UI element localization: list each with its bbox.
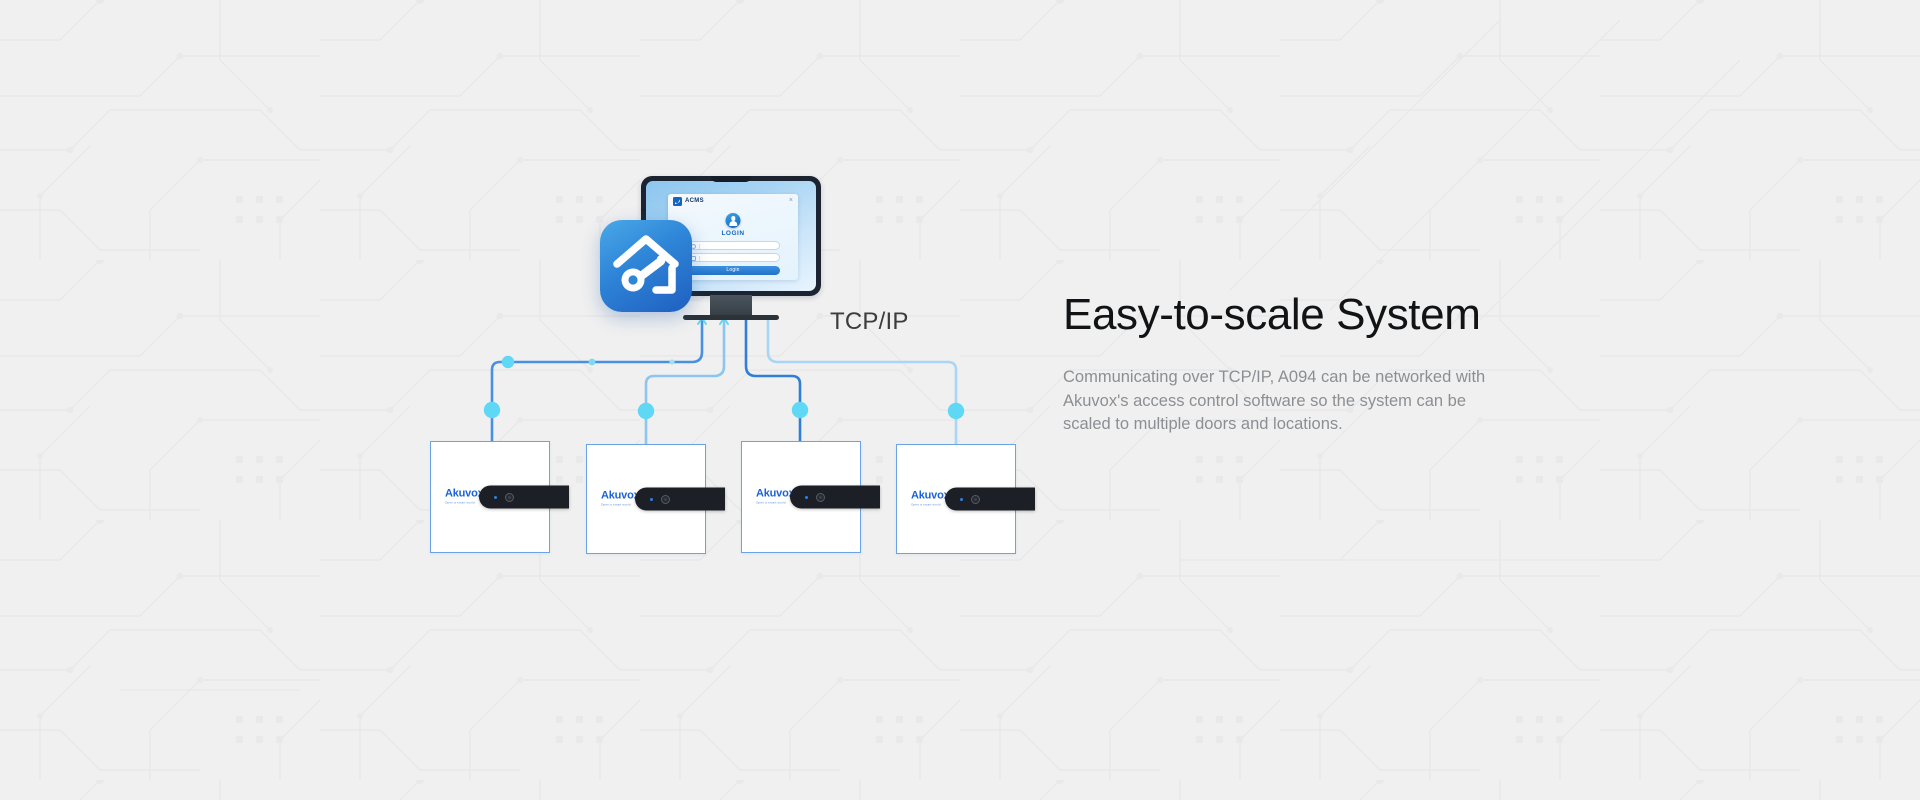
username-field[interactable] bbox=[686, 241, 780, 250]
camera-lens-icon bbox=[971, 495, 980, 504]
monitor-base bbox=[683, 315, 779, 320]
field-divider bbox=[699, 244, 700, 250]
house-key-app-icon[interactable] bbox=[600, 220, 692, 312]
device-reader-bar bbox=[479, 486, 569, 509]
network-connector-lines bbox=[0, 0, 1920, 800]
monitor-neck bbox=[710, 295, 752, 317]
login-submit-button[interactable]: Login bbox=[686, 266, 780, 275]
dialog-titlebar: ACMS × bbox=[668, 194, 798, 209]
device-reader-bar bbox=[945, 488, 1035, 511]
camera-lens-icon bbox=[816, 493, 825, 502]
user-avatar-icon bbox=[726, 213, 741, 228]
access-device-card[interactable]: Akuvox Open a smart world bbox=[896, 444, 1016, 554]
close-icon[interactable]: × bbox=[789, 197, 793, 205]
feature-text-block: Easy-to-scale System Communicating over … bbox=[1063, 292, 1583, 436]
acms-app-name: ACMS bbox=[685, 198, 704, 204]
device-reader-bar bbox=[790, 486, 880, 509]
webcam-notch-icon bbox=[711, 176, 751, 182]
body-paragraph: Communicating over TCP/IP, A094 can be n… bbox=[1063, 366, 1493, 436]
camera-lens-icon bbox=[661, 495, 670, 504]
status-indicator-icon bbox=[960, 498, 963, 501]
status-indicator-icon bbox=[494, 496, 497, 499]
access-device-card[interactable]: Akuvox Open a smart world bbox=[586, 444, 706, 554]
status-indicator-icon bbox=[650, 498, 653, 501]
status-indicator-icon bbox=[805, 496, 808, 499]
device-reader-bar bbox=[635, 488, 725, 511]
access-device-card[interactable]: Akuvox Open a smart world bbox=[430, 441, 550, 553]
acms-logo-icon bbox=[673, 197, 682, 206]
page-title: Easy-to-scale System bbox=[1063, 292, 1583, 338]
camera-lens-icon bbox=[505, 493, 514, 502]
diagram-stage: TCP/IP ACMS × LOGIN bbox=[0, 0, 1920, 800]
password-field[interactable] bbox=[686, 253, 780, 262]
tcp-ip-label: TCP/IP bbox=[830, 308, 909, 336]
field-divider bbox=[699, 256, 700, 262]
access-device-card[interactable]: Akuvox Open a smart world bbox=[741, 441, 861, 553]
